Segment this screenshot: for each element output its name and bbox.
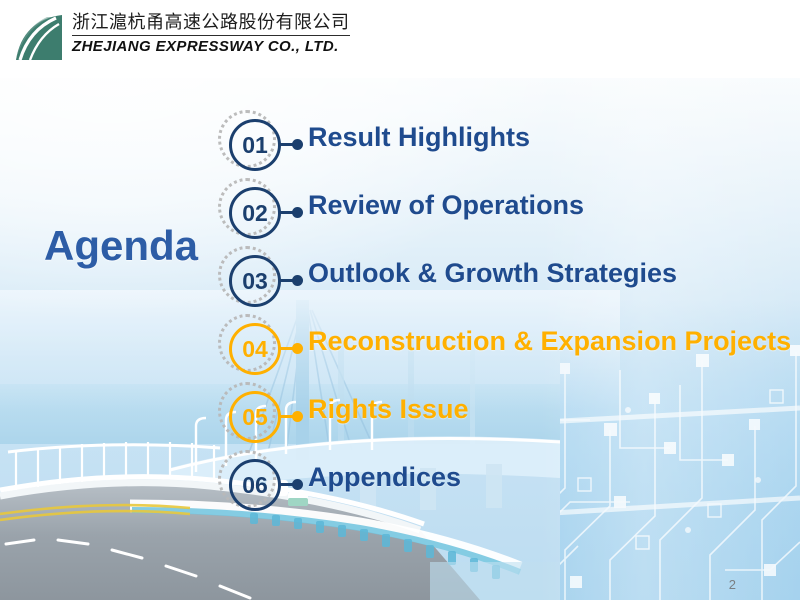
presentation-slide: 浙江滬杭甬高速公路股份有限公司 ZHEJIANG EXPRESSWAY CO.,…	[0, 0, 800, 600]
expressway-logo-icon	[14, 12, 66, 64]
agenda-item-05[interactable]: 05 Rights Issue	[210, 382, 800, 450]
agenda-label-01[interactable]: Result Highlights	[308, 122, 530, 153]
agenda-label-02[interactable]: Review of Operations	[308, 190, 584, 221]
page-number: 2	[729, 577, 736, 592]
logo-chinese-name: 浙江滬杭甬高速公路股份有限公司	[72, 12, 350, 34]
agenda-number-05: 05	[229, 391, 281, 443]
connector-dot	[292, 479, 303, 490]
agenda-badge-04: 04	[210, 314, 306, 382]
agenda-badge-06: 06	[210, 450, 306, 518]
connector-dot	[292, 343, 303, 354]
agenda-item-02[interactable]: 02 Review of Operations	[210, 178, 800, 246]
page-title: Agenda	[44, 222, 198, 270]
agenda-list: 01 Result Highlights 02 Review of Operat…	[210, 110, 800, 518]
agenda-item-01[interactable]: 01 Result Highlights	[210, 110, 800, 178]
agenda-number-01: 01	[229, 119, 281, 171]
connector-dot	[292, 411, 303, 422]
logo-divider	[72, 35, 350, 36]
agenda-badge-02: 02	[210, 178, 306, 246]
agenda-number-06: 06	[229, 459, 281, 511]
agenda-label-05[interactable]: Rights Issue	[308, 394, 469, 425]
connector-dot	[292, 139, 303, 150]
slide-header: 浙江滬杭甬高速公路股份有限公司 ZHEJIANG EXPRESSWAY CO.,…	[0, 0, 800, 78]
connector-dot	[292, 275, 303, 286]
agenda-number-03: 03	[229, 255, 281, 307]
logo-english-name: ZHEJIANG EXPRESSWAY CO., LTD.	[72, 38, 350, 56]
agenda-label-06[interactable]: Appendices	[308, 462, 461, 493]
agenda-number-02: 02	[229, 187, 281, 239]
agenda-badge-05: 05	[210, 382, 306, 450]
agenda-item-03[interactable]: 03 Outlook & Growth Strategies	[210, 246, 800, 314]
agenda-badge-01: 01	[210, 110, 306, 178]
agenda-label-04[interactable]: Reconstruction & Expansion Projects	[308, 326, 791, 357]
agenda-label-03[interactable]: Outlook & Growth Strategies	[308, 258, 677, 289]
connector-dot	[292, 207, 303, 218]
agenda-item-04[interactable]: 04 Reconstruction & Expansion Projects	[210, 314, 800, 382]
company-logo: 浙江滬杭甬高速公路股份有限公司 ZHEJIANG EXPRESSWAY CO.,…	[14, 12, 350, 64]
agenda-item-06[interactable]: 06 Appendices	[210, 450, 800, 518]
agenda-number-04: 04	[229, 323, 281, 375]
agenda-badge-03: 03	[210, 246, 306, 314]
